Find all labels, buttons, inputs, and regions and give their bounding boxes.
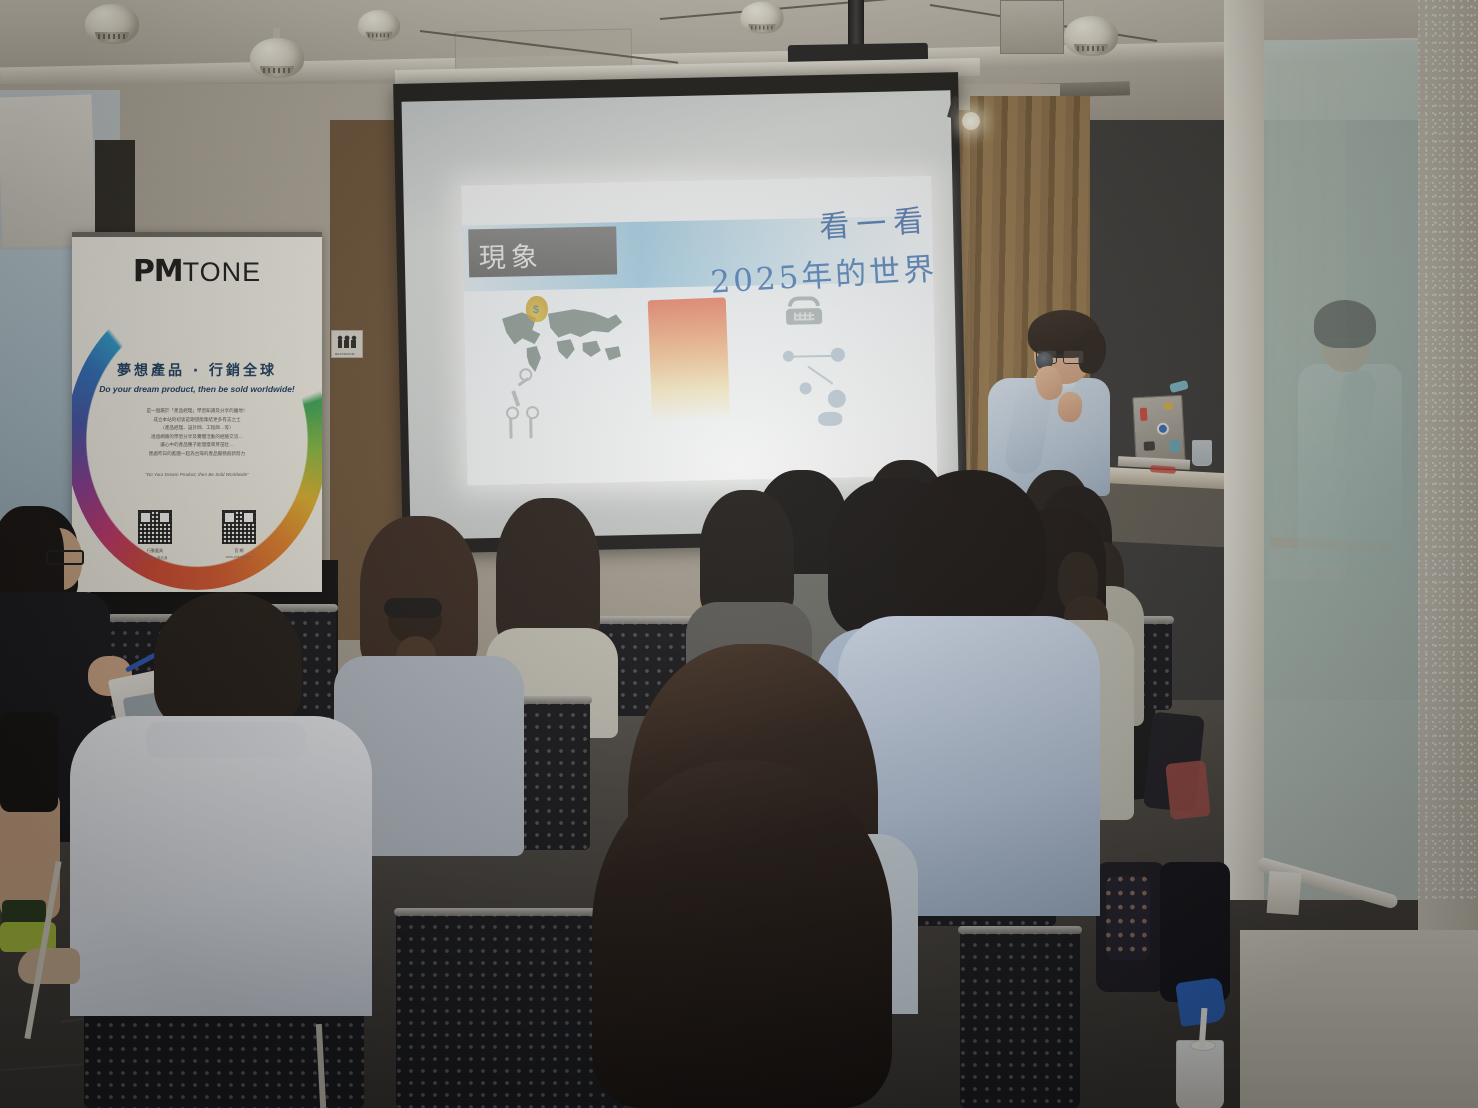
people-figures-icon <box>503 368 556 439</box>
banner-body-text: 是一個屬於「產品經理」學習知識及分享的園地！ 成立本站的初衷是期望能集結更多有志… <box>102 408 292 460</box>
track-light <box>358 2 400 46</box>
restroom-sign: RESTROOM <box>331 330 363 358</box>
restroom-sign-label: RESTROOM <box>335 352 355 356</box>
qr-code-left <box>138 510 172 544</box>
laptop <box>1132 395 1185 466</box>
photograph-scene: RESTROOM 現象 看一看 2025年的世界 <box>0 0 1478 1108</box>
slide-title-line1: 看一看 <box>818 195 932 246</box>
logo-pm-text: PM <box>133 254 183 289</box>
track-light <box>250 28 304 84</box>
logo-tone-text: TONE <box>183 257 262 287</box>
slide-section-label-text: 現象 <box>478 235 543 275</box>
world-map-icon <box>496 302 627 375</box>
right-wall-texture <box>1418 0 1478 900</box>
left-wall-panel <box>0 94 97 247</box>
banner-body-line: 匯處昨日的藍圖一起為台灣的產品服務創新努力 <box>102 451 292 460</box>
rotary-telephone-icon <box>786 296 823 325</box>
banner-body-line: 成立本站的初衷是期望能集結更多有志之士 <box>102 417 292 426</box>
right-wall-lower <box>1240 930 1478 1108</box>
banner-tagline-en: Do your dream product, then be sold worl… <box>72 384 322 394</box>
orange-gradient-card <box>648 297 731 420</box>
qr-code-right <box>222 510 256 544</box>
track-light <box>740 0 783 38</box>
floral-backpack <box>1106 876 1150 960</box>
track-light <box>85 0 139 50</box>
slide-icon-row <box>464 288 938 486</box>
wall-speaker <box>1000 0 1064 54</box>
qr-right-caption-sub: www.pmtone.com <box>209 555 269 559</box>
money-bag-icon <box>526 296 549 322</box>
banner-body-line: （產品經理、設計師、工程師…等） <box>102 425 292 434</box>
hair-clip <box>384 598 442 618</box>
spotlight <box>962 112 980 130</box>
projector-mount-pole <box>848 0 864 46</box>
qr-left-caption-sub: PM Tone 產品通 <box>125 555 185 560</box>
qr-right-caption: 官 網 <box>209 548 269 554</box>
counter-front <box>1095 481 1230 548</box>
pipe-bracket <box>1267 871 1302 915</box>
qr-left-caption: 行動載具 <box>125 548 185 554</box>
dark-clothing <box>0 712 58 812</box>
glass-frame-column <box>1224 0 1264 900</box>
network-nodes-icon <box>781 347 853 428</box>
banner-body-line: 讓心中的產品種子能慢慢萌芽茁壯… <box>102 442 292 451</box>
track-light <box>1064 6 1118 62</box>
screen-surface: 現象 看一看 2025年的世界 <box>402 90 960 539</box>
pmtone-rollup-banner: PMTONE 夢想產品 · 行銷全球 Do your dream product… <box>72 232 322 592</box>
slide-section-label: 現象 <box>468 226 617 277</box>
presentation-slide: 現象 看一看 2025年的世界 <box>461 176 937 486</box>
banner-body-line: 是一個屬於「產品經理」學習知識及分享的園地！ <box>102 408 292 417</box>
presenter-reflection <box>1290 300 1415 570</box>
chair <box>960 930 1080 1108</box>
red-bag <box>1165 760 1211 820</box>
banner-tagline-cn: 夢想產品 · 行銷全球 <box>72 360 322 380</box>
eyeglasses-icon <box>46 550 84 565</box>
counter-cup <box>1192 440 1212 466</box>
banner-quote: "Do Your Dream Product, then Be Sold Wor… <box>102 472 292 477</box>
banner-top-rail <box>72 232 322 237</box>
pmtone-logo: PMTONE <box>72 254 322 289</box>
shoe <box>18 948 80 984</box>
banner-body-line: 透過網路的學習分享及實體活動的經驗交流… <box>102 434 292 443</box>
shirt-collar <box>146 722 306 758</box>
